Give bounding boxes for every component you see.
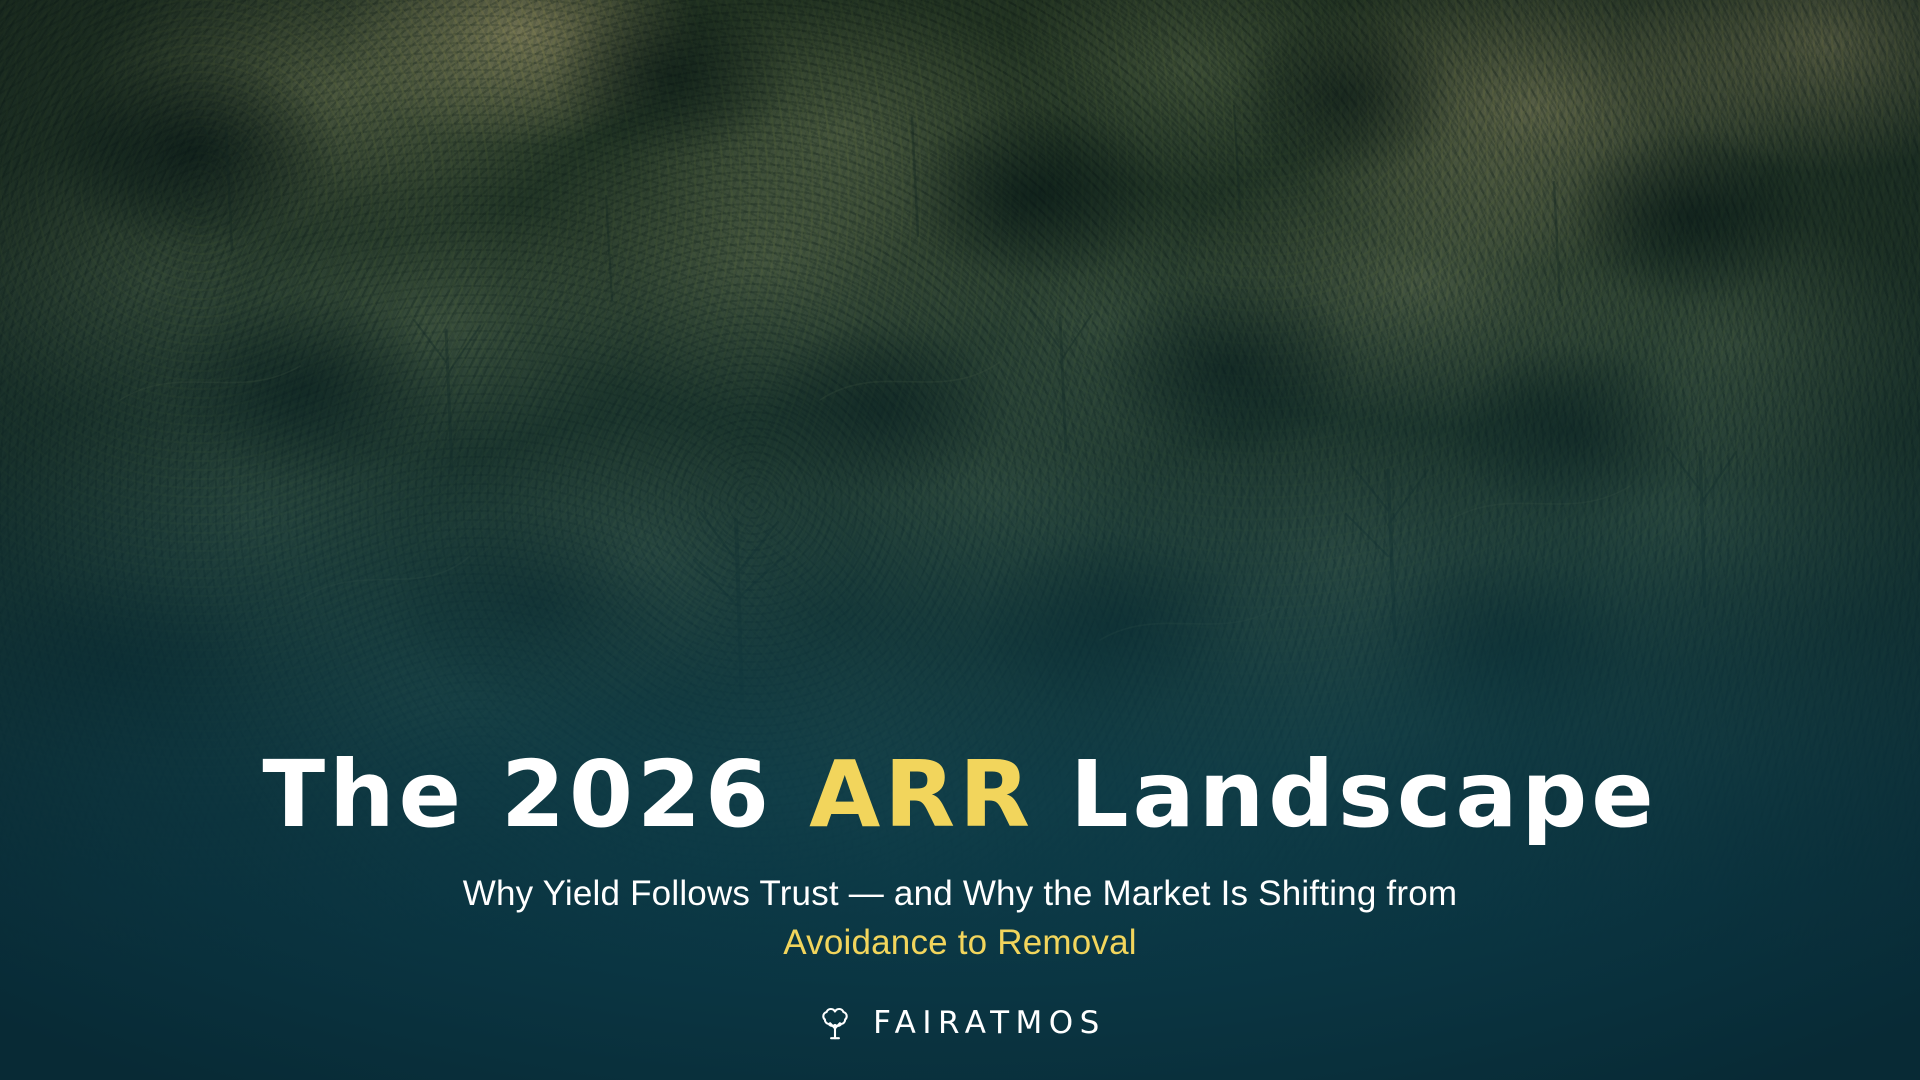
headline-part-1: The 2026 [262, 741, 809, 848]
headline-part-2: Landscape [1034, 741, 1658, 848]
slide-content: The 2026 ARR Landscape Why Yield Follows… [0, 747, 1920, 1080]
subtitle-accent-line: Avoidance to Removal [783, 923, 1137, 962]
subtitle-line-1: Why Yield Follows Trust — and Why the Ma… [463, 874, 1457, 913]
subtitle: Why Yield Follows Trust — and Why the Ma… [370, 869, 1550, 968]
brand-wordmark: FAIRATMOS [873, 1005, 1106, 1041]
page-title: The 2026 ARR Landscape [0, 747, 1920, 843]
headline-accent-arr: ARR [809, 741, 1034, 848]
brand-logo: FAIRATMOS [0, 1002, 1920, 1044]
title-slide: The 2026 ARR Landscape Why Yield Follows… [0, 0, 1920, 1080]
tree-icon [814, 1002, 856, 1044]
